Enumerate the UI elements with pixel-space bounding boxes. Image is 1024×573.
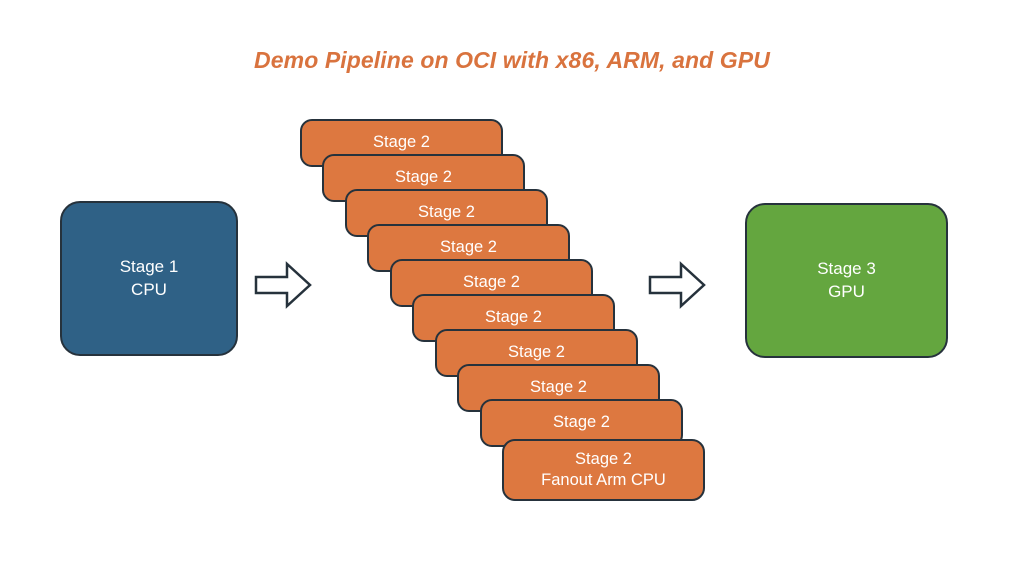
- stage-2-card-label-line1: Stage 2: [373, 132, 430, 153]
- stage-3-label-line1: Stage 3: [817, 258, 876, 280]
- stage-3-box: Stage 3 GPU: [745, 203, 948, 358]
- stage-2-card: Stage 2Fanout Arm CPU: [502, 439, 705, 501]
- stage-2-card-label-line1: Stage 2: [575, 449, 632, 470]
- stage-2-card-label-line1: Stage 2: [530, 377, 587, 398]
- stage-2-card-label-line1: Stage 2: [463, 272, 520, 293]
- stage-2-card-label-line1: Stage 2: [440, 237, 497, 258]
- diagram-canvas: Demo Pipeline on OCI with x86, ARM, and …: [0, 0, 1024, 573]
- stage-2-card-label-line1: Stage 2: [485, 307, 542, 328]
- stage-2-card-label-line1: Stage 2: [553, 412, 610, 433]
- stage-2-card-label-line1: Stage 2: [508, 342, 565, 363]
- stage-2-card-label-line1: Stage 2: [395, 167, 452, 188]
- stage-3-label-line2: GPU: [828, 281, 865, 303]
- stage-2-card-label-line1: Stage 2: [418, 202, 475, 223]
- arrow-stage2-to-stage3-icon: [648, 261, 706, 309]
- stage-2-card-label-line2: Fanout Arm CPU: [541, 470, 666, 491]
